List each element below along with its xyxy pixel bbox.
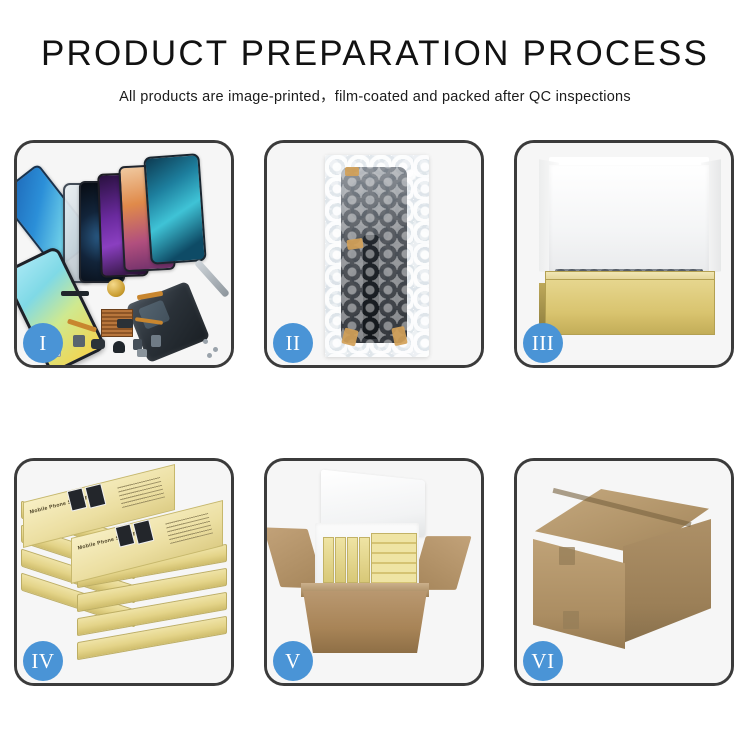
screw-part xyxy=(203,339,208,344)
step-badge-5: V xyxy=(273,641,313,681)
repair-tweezers-icon xyxy=(194,259,230,298)
screw-part xyxy=(207,353,212,358)
small-part xyxy=(73,335,85,347)
phone-teal-screen xyxy=(143,153,206,265)
step-badge-1: I xyxy=(23,323,63,363)
process-step-panel-5: V xyxy=(264,458,484,686)
carton-tape-patch xyxy=(559,547,575,565)
yellow-box-item xyxy=(335,537,346,583)
carton-front-face xyxy=(533,539,625,649)
step-badge-4: IV xyxy=(23,641,63,681)
small-part xyxy=(137,349,147,357)
page-title: PRODUCT PREPARATION PROCESS xyxy=(0,36,750,71)
process-step-panel-2: II xyxy=(264,140,484,368)
process-step-panel-4: Mobile Phone Spare Parts Mobile Phone Sp… xyxy=(14,458,234,686)
step-badge-3: III xyxy=(523,323,563,363)
yellow-box-item xyxy=(359,537,370,583)
process-step-panel-1: I xyxy=(14,140,234,368)
carton-tape-patch xyxy=(563,611,579,629)
small-part xyxy=(91,339,105,349)
page-header: PRODUCT PREPARATION PROCESS All products… xyxy=(0,0,750,106)
yellow-box-item xyxy=(347,537,358,583)
tape-piece xyxy=(345,167,359,176)
vibration-motor-part xyxy=(107,279,125,297)
yellow-box-item xyxy=(323,537,334,583)
process-step-panel-3: III xyxy=(514,140,734,368)
small-part xyxy=(113,341,125,353)
step-badge-2: II xyxy=(273,323,313,363)
process-step-panel-6: VI xyxy=(514,458,734,686)
carton-front xyxy=(303,591,427,653)
step-badge-6: VI xyxy=(523,641,563,681)
bubble-texture-overlay xyxy=(325,155,429,357)
process-step-grid: I II III xyxy=(14,140,736,686)
small-part xyxy=(61,291,89,296)
yellow-box-stack xyxy=(371,533,417,585)
page-subtitle: All products are image-printed，film-coat… xyxy=(0,85,750,106)
screw-part xyxy=(213,347,218,352)
yellow-box-body xyxy=(545,279,715,335)
foam-backing xyxy=(549,165,709,275)
small-part xyxy=(151,335,161,347)
carton-flap-right xyxy=(410,536,471,590)
small-part xyxy=(117,319,133,328)
